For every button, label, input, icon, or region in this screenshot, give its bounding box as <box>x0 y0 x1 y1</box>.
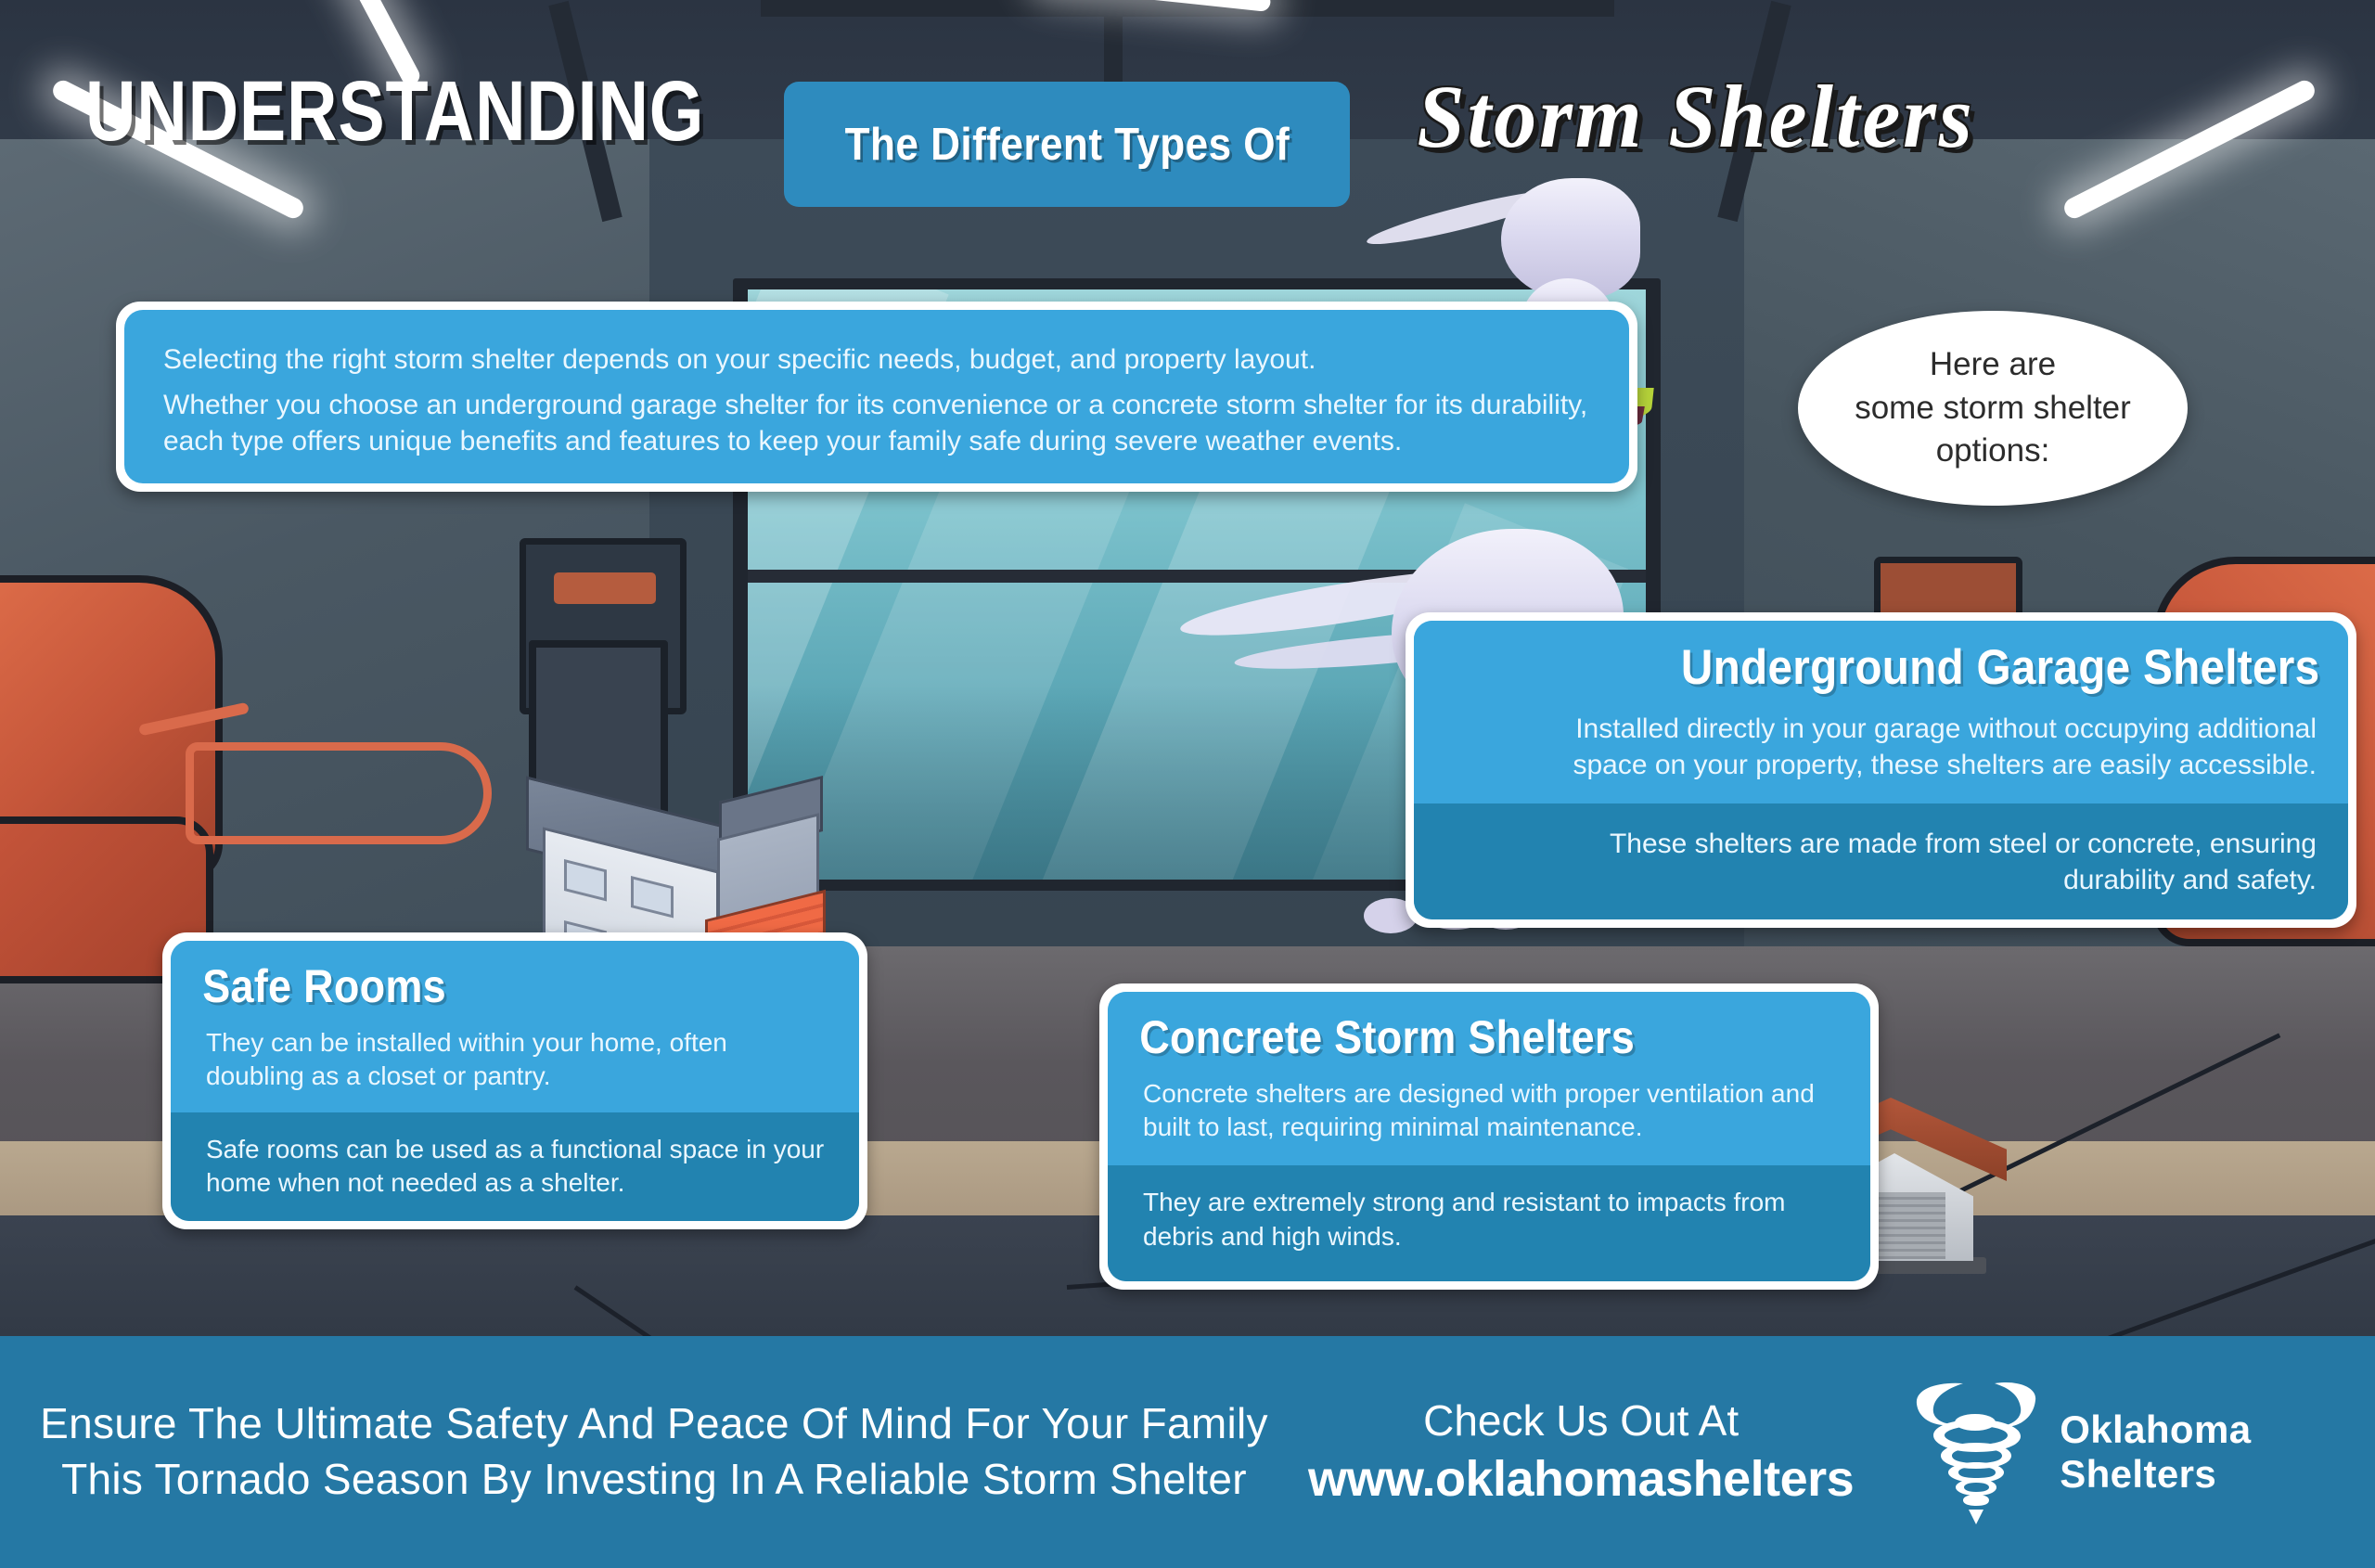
tornado-icon <box>1906 1378 2045 1526</box>
infographic-content: UNDERSTANDING The Different Types Of Sto… <box>0 0 2375 1568</box>
page-title-understanding: UNDERSTANDING <box>85 63 704 161</box>
website-link[interactable]: www.oklahomashelters <box>1308 1450 1854 1508</box>
company-logo[interactable]: Oklahoma Shelters <box>1906 1378 2251 1526</box>
logo-text: Oklahoma Shelters <box>2060 1407 2251 1497</box>
intro-paragraph-1: Selecting the right storm shelter depend… <box>163 341 1590 378</box>
card-paragraph-1: They can be installed within your home, … <box>171 1013 859 1112</box>
header-subtitle-label: The Different Types Of <box>844 119 1290 171</box>
intro-paragraph-2: Whether you choose an underground garage… <box>163 387 1590 459</box>
footer-cta: Check Us Out At www.oklahomashelters <box>1280 1378 2375 1526</box>
infographic-stage: UNDERSTANDING The Different Types Of Sto… <box>0 0 2375 1568</box>
card-title: Safe Rooms <box>171 941 790 1013</box>
brand-title: Storm Shelters <box>1418 65 1975 168</box>
cta-label: Check Us Out At <box>1308 1396 1854 1446</box>
header-subtitle-chip: The Different Types Of <box>784 82 1350 207</box>
card-title: Concrete Storm Shelters <box>1108 992 1794 1064</box>
logo-line-2: Shelters <box>2060 1452 2251 1497</box>
intro-card: Selecting the right storm shelter depend… <box>116 302 1637 492</box>
card-paragraph-1: Installed directly in your garage withou… <box>1414 696 2348 803</box>
speech-bubble-text: Here are some storm shelter options: <box>1855 343 2131 473</box>
card-paragraph-2: They are extremely strong and resistant … <box>1108 1165 1870 1272</box>
card-safe-rooms: Safe Rooms They can be installed within … <box>162 932 867 1229</box>
card-paragraph-2: Safe rooms can be used as a functional s… <box>171 1112 859 1219</box>
logo-line-1: Oklahoma <box>2060 1407 2251 1452</box>
footer: Ensure The Ultimate Safety And Peace Of … <box>0 1336 2375 1568</box>
footer-tagline: Ensure The Ultimate Safety And Peace Of … <box>0 1396 1280 1508</box>
card-underground-garage-shelters: Underground Garage Shelters Installed di… <box>1406 612 2356 928</box>
card-paragraph-1: Concrete shelters are designed with prop… <box>1108 1064 1870 1163</box>
card-concrete-storm-shelters: Concrete Storm Shelters Concrete shelter… <box>1099 983 1879 1290</box>
speech-bubble: Here are some storm shelter options: <box>1798 311 2188 506</box>
header: UNDERSTANDING The Different Types Of Sto… <box>0 28 2375 158</box>
card-title: Underground Garage Shelters <box>1508 621 2348 696</box>
card-paragraph-2: These shelters are made from steel or co… <box>1414 803 2348 919</box>
